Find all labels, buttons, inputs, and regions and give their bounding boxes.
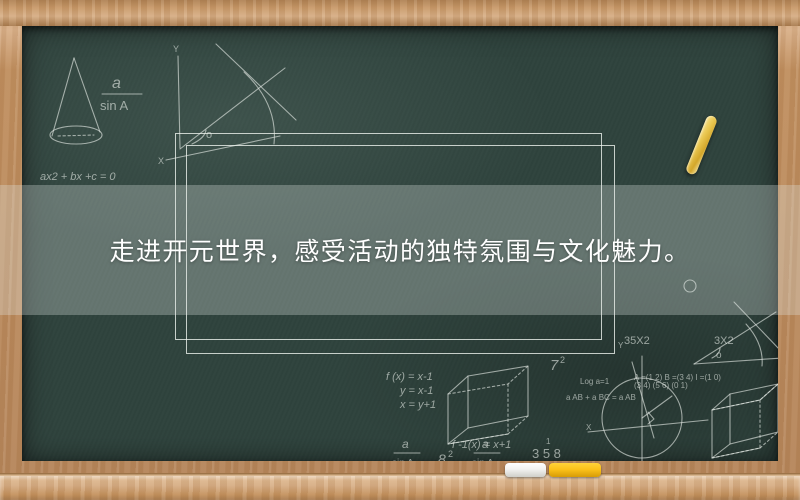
caption-text: 走进开元世界，感受活动的独特氛围与文化魅力。 [110,232,691,268]
svg-text:x = y+1: x = y+1 [399,399,436,411]
blackboard-wooden-frame: a sin A ax2 + bx +c = 0 Y X o f (x) = x-… [0,0,800,500]
svg-text:3X2: 3X2 [714,335,734,347]
svg-text:2: 2 [448,449,453,459]
svg-text:a: a [482,437,489,451]
svg-text:2: 2 [560,355,565,365]
svg-text:ax2 + bx +c = 0: ax2 + bx +c = 0 [40,171,116,183]
svg-text:3 5 8: 3 5 8 [532,446,561,461]
frame-top-rail [0,0,800,26]
svg-text:sin A: sin A [472,458,494,461]
svg-text:(3 4) (5 6) (0 1): (3 4) (5 6) (0 1) [634,381,688,390]
svg-text:X: X [158,156,164,166]
svg-text:a: a [402,437,409,451]
svg-text:35X2: 35X2 [624,335,650,347]
svg-text:sin A: sin A [100,98,129,113]
svg-text:a AB + a BC = a AB: a AB + a BC = a AB [566,393,636,402]
svg-text:A =(1 2) B =(3 4) I =(1 0): A =(1 2) B =(3 4) I =(1 0) [634,373,721,382]
svg-text:Log a=1: Log a=1 [580,377,610,386]
svg-text:f -1(x) = x+1: f -1(x) = x+1 [452,439,511,451]
svg-text:Y: Y [173,44,179,54]
svg-text:y = x-1: y = x-1 [399,385,433,397]
svg-text:2 7 9: 2 7 9 [532,460,561,461]
svg-text:X: X [586,423,592,432]
caption-overlay-band: 走进开元世界，感受活动的独特氛围与文化魅力。 [0,185,800,315]
svg-text:o: o [716,350,722,361]
svg-text:f (x) = x-1: f (x) = x-1 [386,371,433,383]
svg-text:Y: Y [618,341,624,350]
svg-text:7: 7 [550,357,559,374]
svg-text:8: 8 [438,451,446,461]
yellow-chalk-stick [685,114,718,176]
yellow-chalk-piece [549,463,601,477]
svg-text:a: a [112,75,121,92]
svg-text:sin A: sin A [392,458,414,461]
svg-text:1: 1 [546,437,551,446]
white-chalk-piece [505,463,546,477]
chalk-ledge [0,476,800,500]
